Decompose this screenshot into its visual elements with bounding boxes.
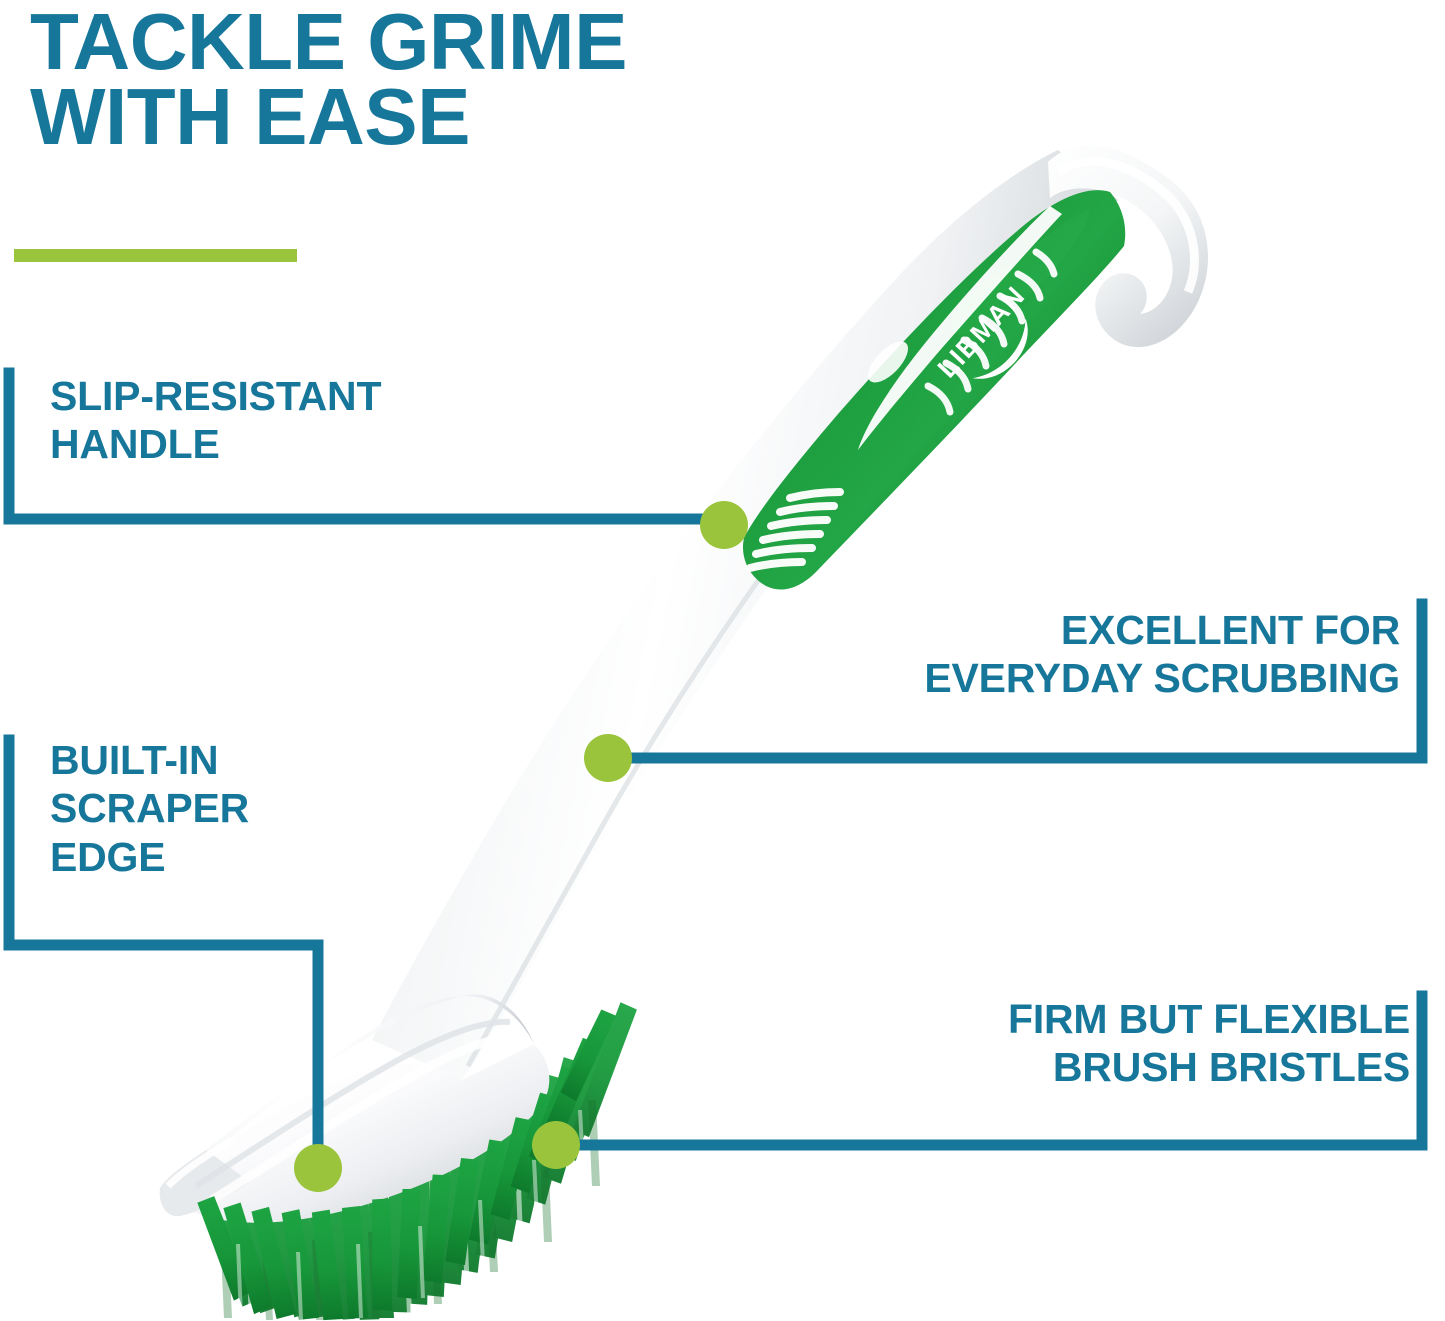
callout-3-line-2: SCRAPER — [50, 784, 249, 832]
callout-label-excellent-for-everyday-scrubbing: EXCELLENT FOR EVERYDAY SCRUBBING — [620, 606, 1400, 703]
callout-3-line-3: EDGE — [50, 833, 249, 881]
callout-label-slip-resistant-handle: SLIP-RESISTANT HANDLE — [50, 372, 381, 469]
callout-2-line-2: EVERYDAY SCRUBBING — [620, 654, 1400, 702]
callout-2-line-1: EXCELLENT FOR — [620, 606, 1400, 654]
callout-label-firm-but-flexible-brush-bristles: FIRM BUT FLEXIBLE BRUSH BRISTLES — [620, 995, 1410, 1092]
callout-1-line-2: HANDLE — [50, 420, 381, 468]
infographic-canvas: TACKLE GRIME WITH EASE — [0, 0, 1445, 1321]
callout-1-line-1: SLIP-RESISTANT — [50, 372, 381, 420]
callout-4-line-2: BRUSH BRISTLES — [620, 1043, 1410, 1091]
callout-4-line-1: FIRM BUT FLEXIBLE — [620, 995, 1410, 1043]
callout-3-line-1: BUILT-IN — [50, 736, 249, 784]
callout-label-built-in-scraper-edge: BUILT-IN SCRAPER EDGE — [50, 736, 249, 881]
